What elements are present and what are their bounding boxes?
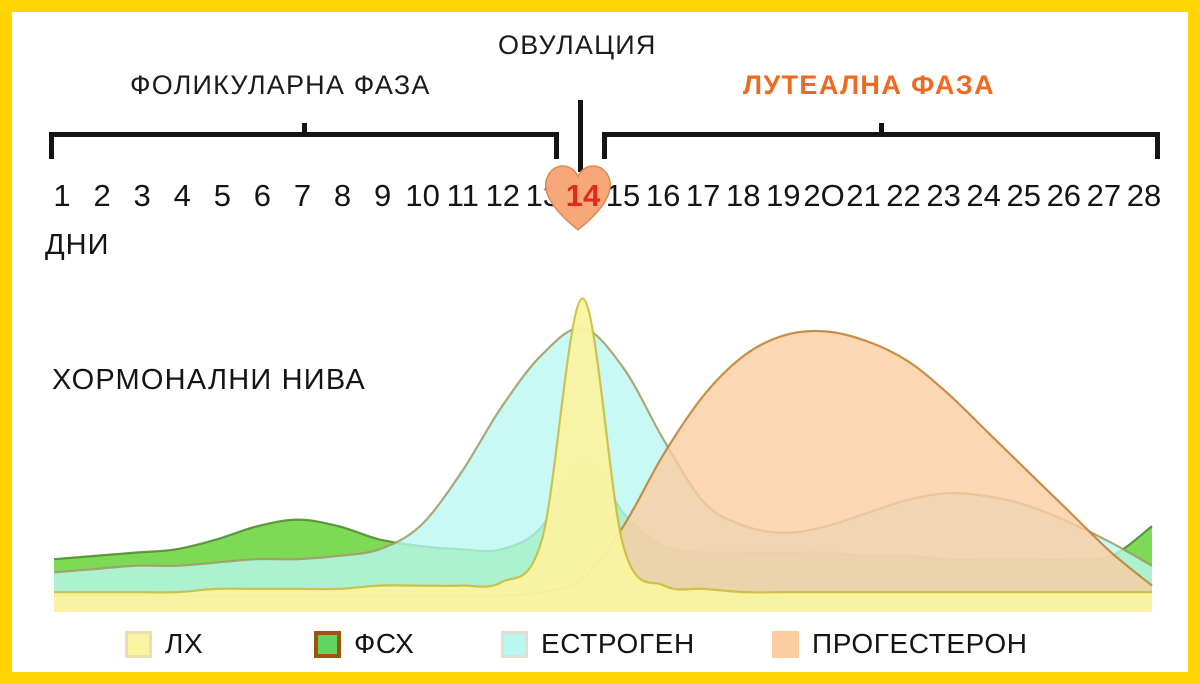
day-label-14: 14 xyxy=(563,176,603,216)
legend-label-progesterone: ПРОГЕСТЕРОН xyxy=(812,628,1028,660)
day-label-12: 12 xyxy=(483,176,523,216)
bracket-leg-left xyxy=(602,132,607,159)
follicular-phase-label: ФОЛИКУЛАРНА ФАЗА xyxy=(130,70,431,101)
day-label-17: 17 xyxy=(683,176,723,216)
hormone-levels-chart xyxy=(12,274,1188,622)
legend-item-estrogen[interactable]: ЕСТРОГЕН xyxy=(501,624,695,664)
day-label-21: 21 xyxy=(843,176,883,216)
bracket-leg-left xyxy=(49,132,54,159)
day-label-25: 25 xyxy=(1004,176,1044,216)
legend-item-progesterone[interactable]: ПРОГЕСТЕРОН xyxy=(772,624,1028,664)
legend-label-estrogen: ЕСТРОГЕН xyxy=(541,628,695,660)
ovulation-label: ОВУЛАЦИЯ xyxy=(498,30,657,61)
infographic-frame: ОВУЛАЦИЯ ФОЛИКУЛАРНА ФАЗА ЛУТЕАЛНА ФАЗА … xyxy=(12,12,1188,672)
legend-label-lh: ЛХ xyxy=(165,628,203,660)
day-label-26: 26 xyxy=(1044,176,1084,216)
day-label-2: 2 xyxy=(82,176,122,216)
day-label-28: 28 xyxy=(1124,176,1164,216)
bracket-nub xyxy=(302,123,307,133)
day-label-10: 10 xyxy=(403,176,443,216)
day-label-23: 23 xyxy=(924,176,964,216)
swatch-progesterone-icon xyxy=(772,631,799,658)
day-label-24: 24 xyxy=(964,176,1004,216)
bracket-nub xyxy=(879,123,884,133)
chart-legend: ЛХ ФСХ ЕСТРОГЕН ПРОГЕСТЕРОН xyxy=(12,624,1188,668)
bracket-leg-right xyxy=(1155,132,1160,159)
day-label-27: 27 xyxy=(1084,176,1124,216)
day-label-9: 9 xyxy=(363,176,403,216)
day-label-2O: 2O xyxy=(803,176,843,216)
luteal-phase-label: ЛУТЕАЛНА ФАЗА xyxy=(743,70,995,101)
day-label-4: 4 xyxy=(162,176,202,216)
swatch-fsh-icon xyxy=(314,631,341,658)
day-label-5: 5 xyxy=(202,176,242,216)
day-label-8: 8 xyxy=(323,176,363,216)
legend-item-fsh[interactable]: ФСХ xyxy=(314,624,414,664)
day-label-3: 3 xyxy=(122,176,162,216)
bracket-leg-right xyxy=(554,132,559,159)
day-label-16: 16 xyxy=(643,176,683,216)
day-label-19: 19 xyxy=(763,176,803,216)
legend-label-fsh: ФСХ xyxy=(354,628,414,660)
swatch-estrogen-icon xyxy=(501,631,528,658)
day-label-22: 22 xyxy=(884,176,924,216)
day-label-1: 1 xyxy=(42,176,82,216)
day-label-18: 18 xyxy=(723,176,763,216)
legend-item-lh[interactable]: ЛХ xyxy=(125,624,203,664)
day-label-6: 6 xyxy=(242,176,282,216)
day-label-11: 11 xyxy=(443,176,483,216)
day-label-7: 7 xyxy=(282,176,322,216)
days-caption: ДНИ xyxy=(45,229,109,262)
swatch-lh-icon xyxy=(125,631,152,658)
